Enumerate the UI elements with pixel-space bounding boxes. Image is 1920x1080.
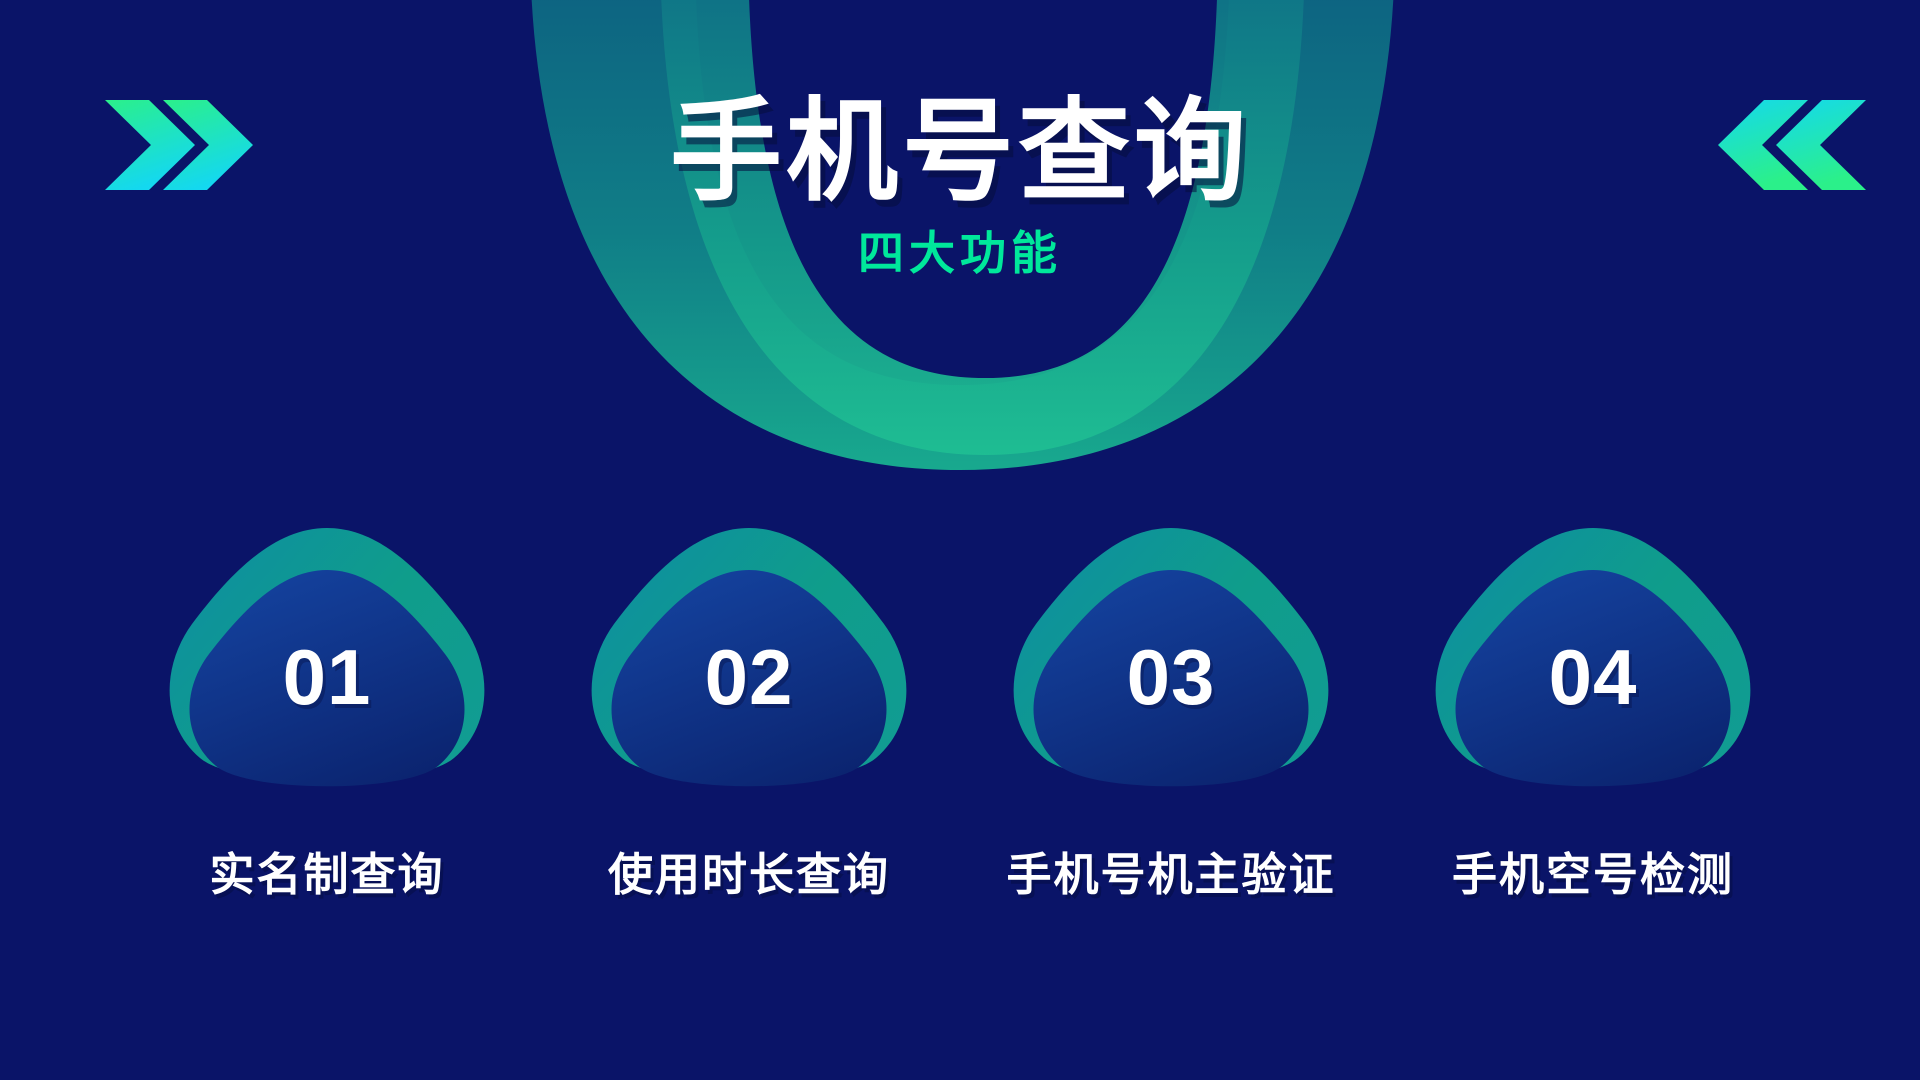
- double-chevron-right-icon: [105, 100, 255, 190]
- feature-badge: 02: [584, 520, 914, 790]
- feature-number: 04: [1428, 632, 1758, 723]
- feature-badge: 01: [162, 520, 492, 790]
- page-subtitle: 四大功能: [0, 230, 1920, 276]
- poster-canvas: 手机号查询 四大功能: [0, 0, 1920, 1080]
- feature-number: 01: [162, 632, 492, 723]
- feature-number: 03: [1006, 632, 1336, 723]
- feature-item[interactable]: 04 手机空号检测: [1408, 520, 1778, 903]
- feature-item[interactable]: 01 实名制查询: [142, 520, 512, 903]
- feature-badge: 04: [1428, 520, 1758, 790]
- feature-label: 使用时长查询: [608, 838, 890, 903]
- feature-item[interactable]: 03 手机号机主验证: [986, 520, 1356, 903]
- feature-list: 01 实名制查询: [0, 520, 1920, 903]
- feature-badge: 03: [1006, 520, 1336, 790]
- feature-item[interactable]: 02 使用时长查询: [564, 520, 934, 903]
- feature-label: 手机空号检测: [1452, 838, 1734, 903]
- feature-label: 手机号机主验证: [1006, 838, 1335, 903]
- double-chevron-left-icon: [1718, 100, 1868, 190]
- feature-number: 02: [584, 632, 914, 723]
- feature-label: 实名制查询: [209, 838, 444, 903]
- page-title: 手机号查询: [0, 96, 1920, 208]
- header-block: 手机号查询 四大功能: [0, 96, 1920, 276]
